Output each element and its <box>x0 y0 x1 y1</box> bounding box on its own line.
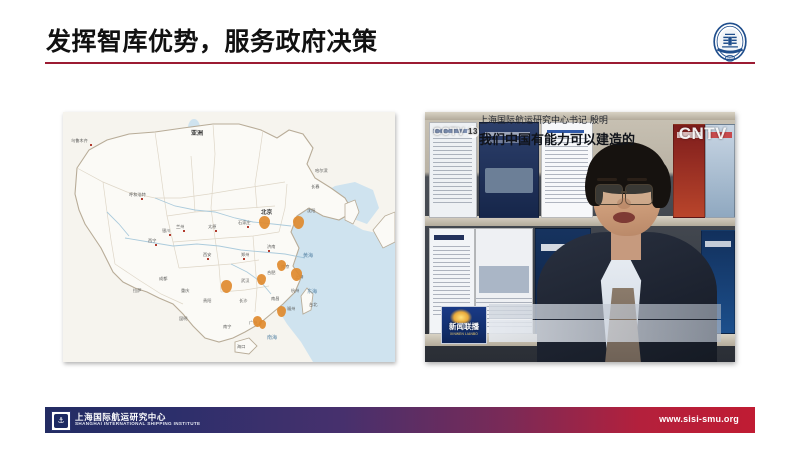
speaker-title-text: 上海国际航运研究中心书记 殷明 <box>479 113 608 126</box>
xinwen-lianbo-badge: 新闻联播 XINWEN LIANBO <box>441 306 487 344</box>
map-city-label: 长沙 <box>239 298 247 304</box>
subtitle-text: 我们中国有能力可以建造的 <box>479 129 635 148</box>
map-city-label: 拉萨 <box>133 288 141 294</box>
map-city-dot <box>155 244 157 246</box>
map-city-label: 呼和浩特 <box>129 192 146 198</box>
map-city-label: 西宁 <box>148 238 156 244</box>
sisi-logo-mark: ⚓ <box>56 415 66 426</box>
map-city-label: 石家庄 <box>238 220 251 226</box>
sisi-logo-icon: ⚓ <box>51 411 71 431</box>
map-label-yellow-sea: 黄海 <box>303 252 313 259</box>
interviewee-brow-left <box>597 178 617 181</box>
china-map-image: 亚洲 黄海 东海 南海 乌鲁木齐 呼和浩特 银川 西宁 兰州 太原 石家庄 北京… <box>63 112 395 362</box>
map-city-label: 银川 <box>162 228 170 234</box>
cctv-channel-number: 13 <box>467 126 479 138</box>
map-city-dot <box>207 258 209 260</box>
map-city-label: 南宁 <box>223 324 231 330</box>
interviewee-mouth <box>613 212 635 223</box>
cntv-logo-watermark: CNTV <box>679 124 727 144</box>
map-label-south-china-sea: 南海 <box>267 334 277 341</box>
title-underline-rule <box>45 62 755 64</box>
slide-footer-bar: ⚓ 上海国际航运研究中心 SHANGHAI INTERNATIONAL SHIP… <box>45 407 755 433</box>
svg-text:1909: 1909 <box>726 57 734 61</box>
map-city-label: 兰州 <box>176 224 184 230</box>
lower-third-caption: 新闻联播 XINWEN LIANBO <box>441 304 721 344</box>
eyeglasses-bridge <box>621 191 627 193</box>
map-city-dot <box>183 230 185 232</box>
map-city-label: 武汉 <box>241 278 249 284</box>
map-label-asia: 亚洲 <box>191 128 203 137</box>
map-city-dot <box>268 250 270 252</box>
cctv-news-video-still: CCTV13 CNTV 新闻联播 XINWEN LIANBO 上海国际航运研究中… <box>425 112 735 362</box>
map-city-dot <box>243 258 245 260</box>
map-city-dot <box>141 198 143 200</box>
footer-website-url[interactable]: www.sisi-smu.org <box>659 414 739 424</box>
interviewee-hair-right <box>651 162 671 208</box>
map-city-dot <box>215 230 217 232</box>
map-city-label: 昆明 <box>179 316 187 322</box>
map-city-dot <box>247 226 249 228</box>
university-emblem-icon: 1909 <box>709 20 751 65</box>
caption-name-bar <box>489 304 721 319</box>
video-scene: CCTV13 CNTV 新闻联播 XINWEN LIANBO 上海国际航运研究中… <box>425 112 735 362</box>
map-city-label: 杭州 <box>291 288 299 294</box>
map-city-label: 长春 <box>311 184 319 190</box>
map-city-label: 台北 <box>309 302 317 308</box>
map-city-dot <box>169 234 171 236</box>
map-city-label: 海口 <box>237 344 245 350</box>
caption-quote-bar <box>489 320 721 342</box>
map-city-dot <box>90 144 92 146</box>
slide-header: 发挥智库优势，服务政府决策 <box>0 0 800 70</box>
map-city-label: 沈阳 <box>307 208 315 214</box>
interviewee-brow-right <box>627 178 647 181</box>
map-city-label: 合肥 <box>267 270 275 276</box>
map-city-label: 乌鲁木齐 <box>71 138 88 144</box>
map-city-label: 太原 <box>208 224 216 230</box>
map-city-label-beijing: 北京 <box>261 208 272 216</box>
map-city-label: 哈尔滨 <box>315 168 328 174</box>
footer-org-name-en: SHANGHAI INTERNATIONAL SHIPPING INSTITUT… <box>75 421 200 426</box>
map-city-label: 贵阳 <box>203 298 211 304</box>
page-title: 发挥智库优势，服务政府决策 <box>46 22 378 58</box>
map-label-east-china-sea: 东海 <box>307 288 317 295</box>
cctv-wordmark: CCTV <box>433 126 465 138</box>
map-city-label: 南昌 <box>271 296 279 302</box>
presentation-slide: 发挥智库优势，服务政府决策 <box>0 0 800 450</box>
map-city-label: 福州 <box>287 306 295 312</box>
interviewee-nose <box>617 198 631 209</box>
map-city-label: 成都 <box>159 276 167 282</box>
badge-title-cn: 新闻联播 <box>444 321 484 332</box>
cctv-channel-watermark: CCTV13 <box>433 126 479 138</box>
badge-title-en: XINWEN LIANBO <box>443 332 485 336</box>
map-city-label: 重庆 <box>181 288 189 294</box>
